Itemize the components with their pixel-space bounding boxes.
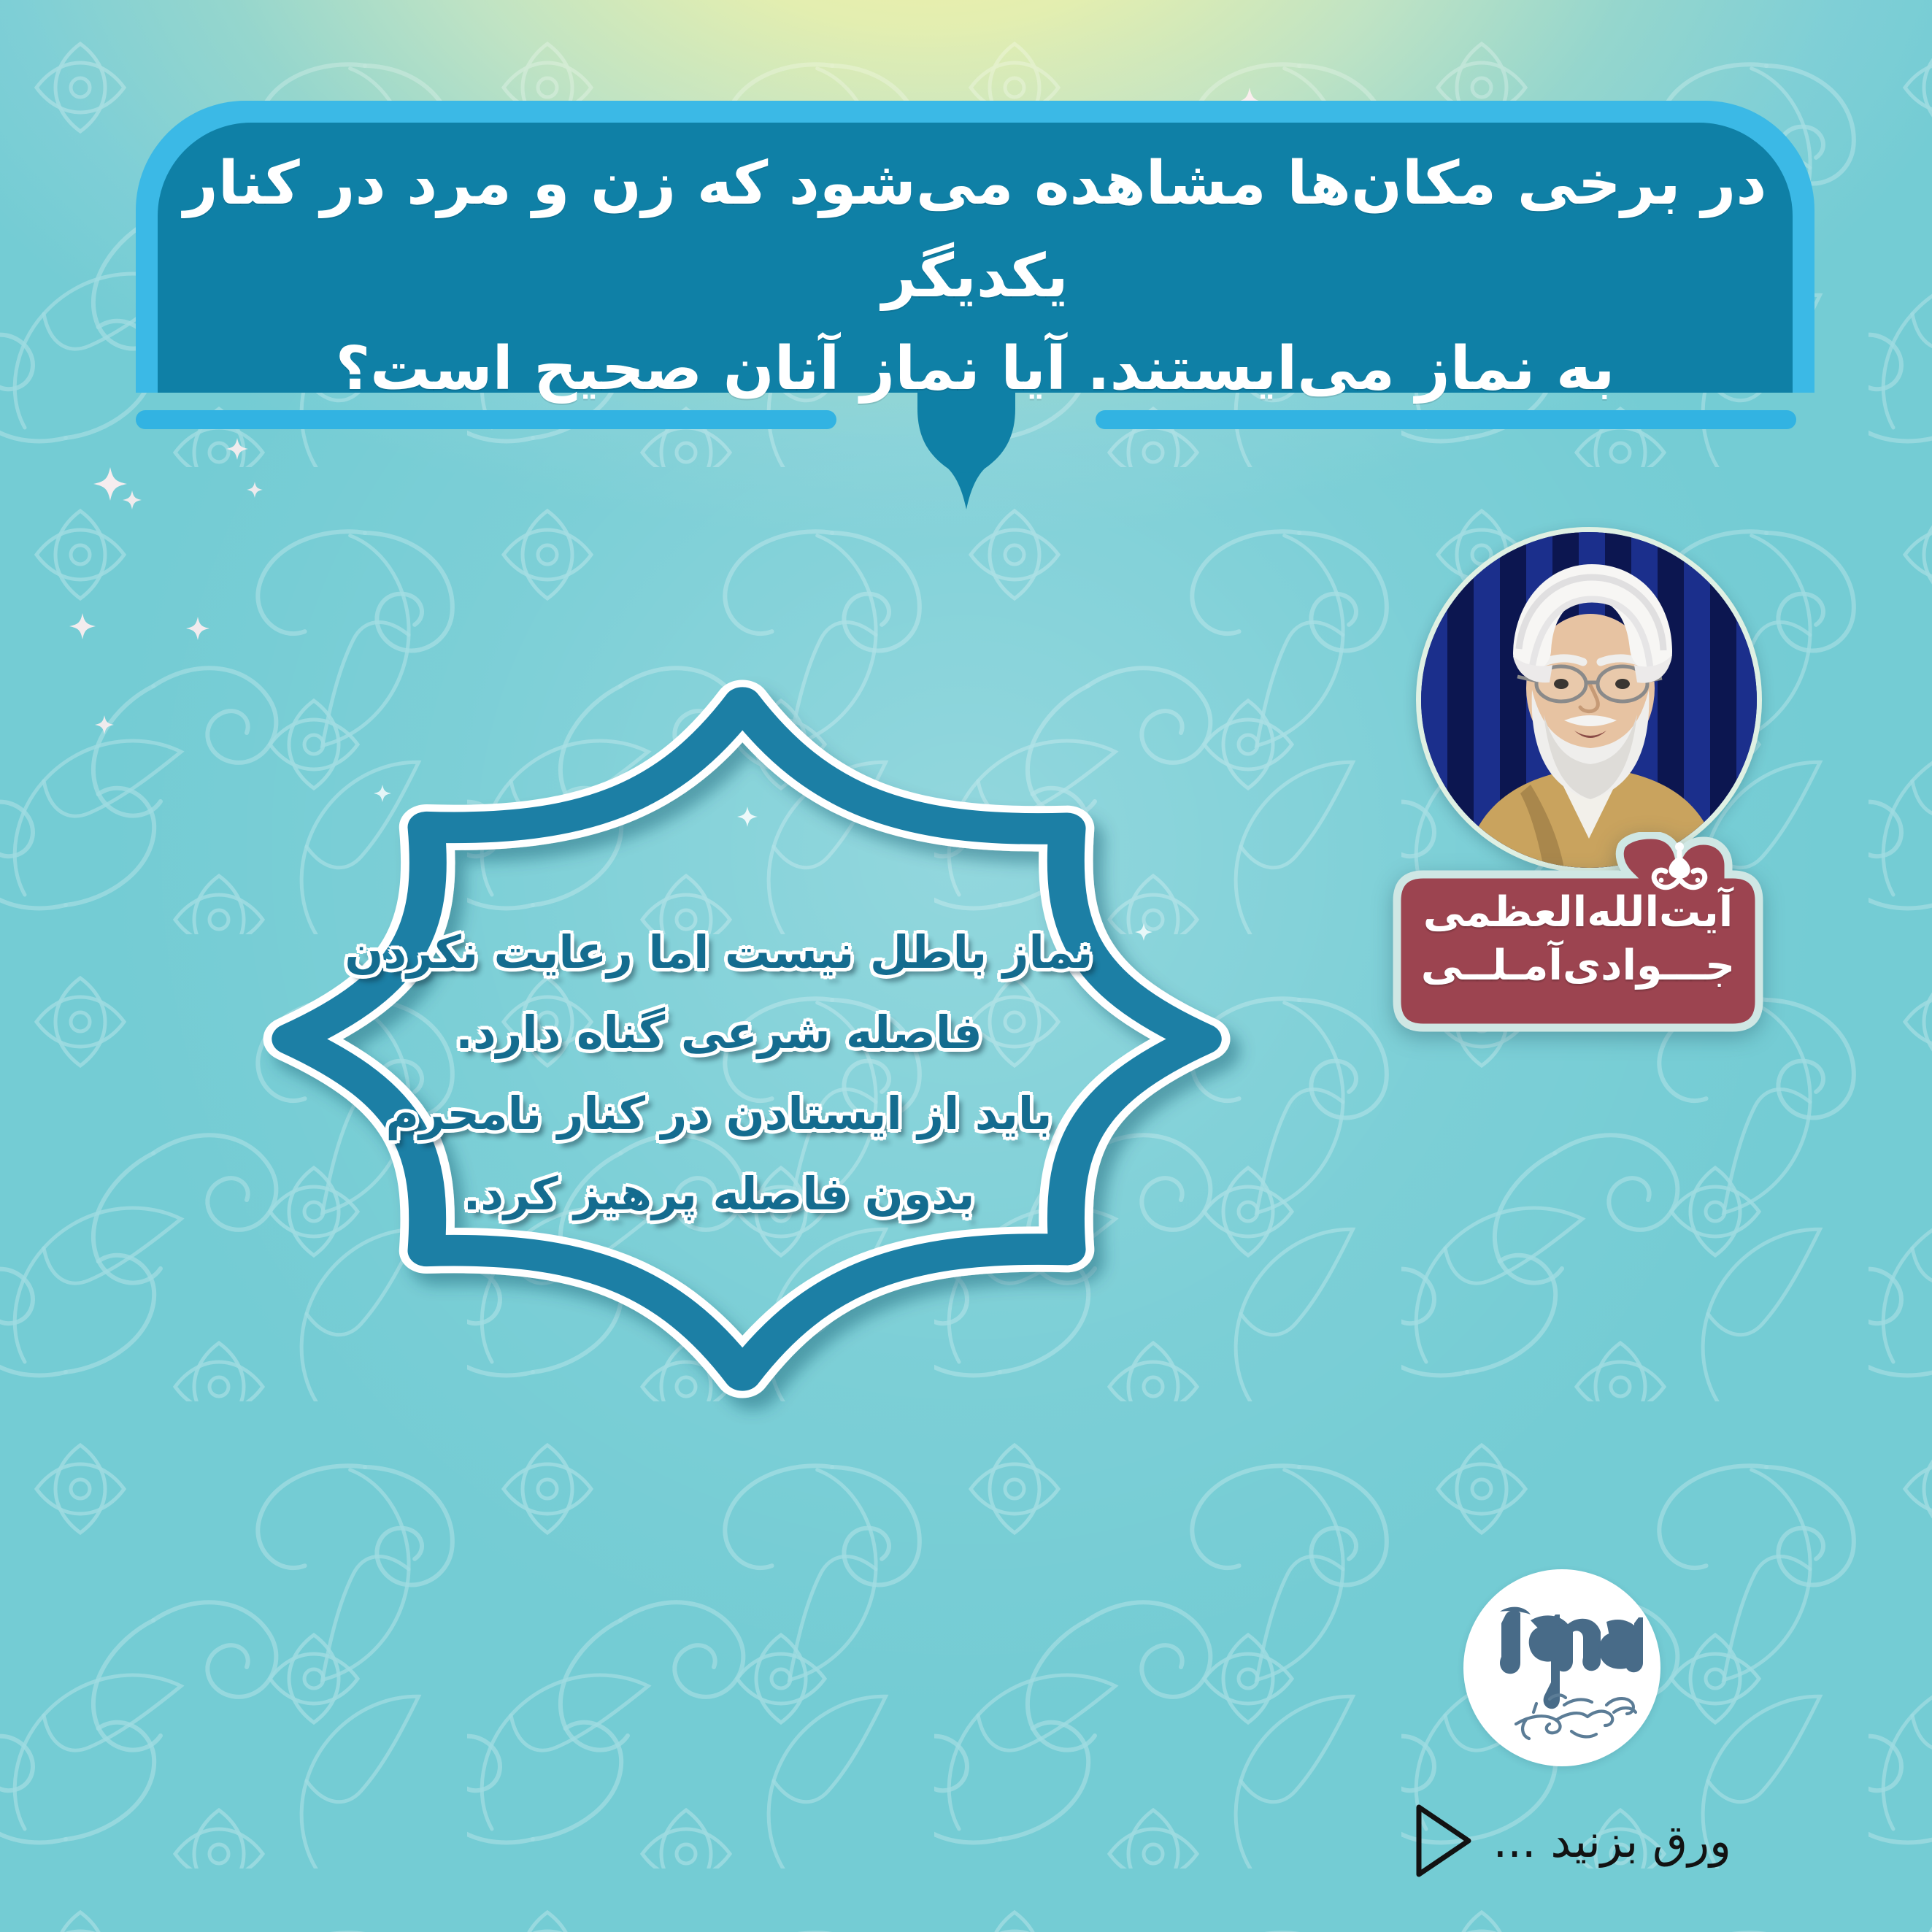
play-triangle-icon[interactable] <box>1412 1803 1474 1879</box>
badge-name-text: آیت‌الله‌العظمی جـــوادی‌آمـلــی <box>1407 886 1749 993</box>
badge-title-line-1: آیت‌الله‌العظمی <box>1407 886 1749 939</box>
banner-rule-left <box>136 410 836 429</box>
banner-pendant-ornament <box>875 393 1058 539</box>
swipe-label: ورق بزنید ... <box>1493 1814 1732 1868</box>
poster-canvas: در برخی مکان‌ها مشاهده می‌شود که زن و مر… <box>0 0 1932 1932</box>
portrait-figure <box>1421 532 1757 868</box>
answer-line-2: فاصله شرعی گناه دارد. <box>314 993 1124 1073</box>
swipe-hint[interactable]: ورق بزنید ... <box>1412 1803 1732 1879</box>
question-line-1: در برخی مکان‌ها مشاهده می‌شود که زن و مر… <box>180 137 1771 323</box>
badge-title-line-2: جـــوادی‌آمـلــی <box>1407 939 1749 993</box>
question-banner: در برخی مکان‌ها مشاهده می‌شود که زن و مر… <box>136 101 1814 393</box>
cleric-portrait-avatar <box>1416 527 1762 873</box>
iqna-wordmark-shape <box>1500 1607 1643 1709</box>
answer-text: نماز باطل نیست اما رعایت نکردن فاصله شرع… <box>314 912 1124 1234</box>
question-text: در برخی مکان‌ها مشاهده می‌شود که زن و مر… <box>180 137 1771 415</box>
scholar-name-badge: آیت‌الله‌العظمی جـــوادی‌آمـلــی <box>1388 832 1768 1036</box>
answer-line-3: باید از ایستادن در کنار نامحرم <box>314 1074 1124 1154</box>
answer-line-1: نماز باطل نیست اما رعایت نکردن <box>314 912 1124 993</box>
logo-circle-backdrop <box>1463 1569 1660 1766</box>
banner-rule-right <box>1096 410 1796 429</box>
iqna-logo[interactable] <box>1463 1569 1660 1766</box>
iqna-tagline-calligraphy <box>1516 1695 1636 1739</box>
answer-line-4: بدون فاصله پرهیز کرد. <box>314 1154 1124 1234</box>
